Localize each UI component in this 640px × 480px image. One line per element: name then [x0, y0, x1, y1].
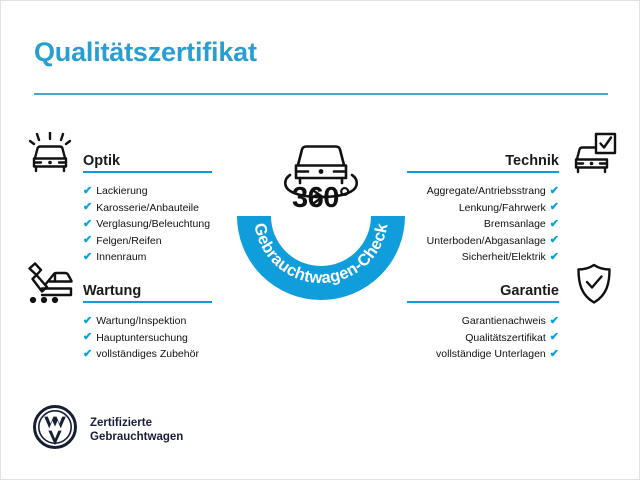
- checklist-garantie: Garantienachweis✔ Qualitätszertifikat✔ v…: [407, 313, 559, 363]
- check-icon: ✔: [83, 349, 92, 360]
- list-item-label: Felgen/Reifen: [96, 233, 161, 250]
- vw-footer: Zertifizierte Gebrauchtwagen: [33, 405, 183, 454]
- section-title: Optik: [83, 153, 120, 169]
- check-icon: ✔: [550, 186, 559, 197]
- list-item-label: Hauptuntersuchung: [96, 330, 188, 347]
- shield-check-icon: [575, 263, 613, 310]
- list-item: Qualitätszertifikat✔: [407, 330, 559, 347]
- list-item: Bremsanlage✔: [407, 216, 559, 233]
- list-item: ✔Lackierung: [83, 183, 201, 200]
- section-optik: Optik ✔Lackierung ✔Karosserie/Anbauteile…: [83, 139, 201, 266]
- list-item: Sicherheit/Elektrik✔: [407, 249, 559, 266]
- list-item: ✔Hauptuntersuchung: [83, 330, 201, 347]
- check-icon: ✔: [550, 349, 559, 360]
- list-item: Garantienachweis✔: [407, 313, 559, 330]
- car-wrench-icon: [25, 262, 75, 309]
- section-header: Garantie: [407, 269, 559, 303]
- car-rotate-icon: [296, 147, 346, 184]
- check-icon: ✔: [83, 235, 92, 246]
- check-icon: ✔: [550, 202, 559, 213]
- checklist-technik: Aggregate/Antriebsstrang✔ Lenkung/Fahrwe…: [407, 183, 559, 266]
- list-item: ✔vollständiges Zubehör: [83, 346, 201, 363]
- section-garantie: Garantie Garantienachweis✔ Qualitätszert…: [407, 269, 559, 363]
- list-item: vollständige Unterlagen✔: [407, 346, 559, 363]
- list-item-label: Innenraum: [96, 249, 146, 266]
- title-divider: [34, 93, 608, 95]
- section-divider: [407, 301, 559, 303]
- check-icon: ✔: [83, 316, 92, 327]
- list-item-label: Bremsanlage: [484, 216, 546, 233]
- vw-footer-line2: Gebrauchtwagen: [90, 430, 183, 444]
- list-item: Lenkung/Fahrwerk✔: [407, 200, 559, 217]
- page-title: Qualitätszertifikat: [34, 37, 257, 68]
- checklist-wartung: ✔Wartung/Inspektion ✔Hauptuntersuchung ✔…: [83, 313, 201, 363]
- check-icon: ✔: [83, 202, 92, 213]
- list-item-label: Karosserie/Anbauteile: [96, 200, 199, 217]
- check-icon: ✔: [83, 332, 92, 343]
- list-item: Unterboden/Abgasanlage✔: [407, 233, 559, 250]
- check-icon: ✔: [550, 235, 559, 246]
- list-item-label: Unterboden/Abgasanlage: [427, 233, 546, 250]
- section-divider: [407, 171, 559, 173]
- badge-degrees: 360°: [226, 182, 416, 215]
- list-item-label: Aggregate/Antriebsstrang: [427, 183, 546, 200]
- list-item-label: Lenkung/Fahrwerk: [459, 200, 546, 217]
- vw-footer-text: Zertifizierte Gebrauchtwagen: [90, 416, 183, 444]
- section-header: Optik: [83, 139, 201, 173]
- list-item-label: Wartung/Inspektion: [96, 313, 186, 330]
- section-technik: Technik Aggregate/Antriebsstrang✔ Lenkun…: [407, 139, 559, 266]
- section-title: Garantie: [500, 283, 559, 299]
- section-divider: [83, 171, 212, 173]
- check-icon: ✔: [83, 252, 92, 263]
- list-item-label: vollständiges Zubehör: [96, 346, 199, 363]
- certificate-page: Qualitätszertifikat: [0, 0, 640, 480]
- check-icon: ✔: [550, 316, 559, 327]
- list-item-label: Lackierung: [96, 183, 147, 200]
- list-item: ✔Verglasung/Beleuchtung: [83, 216, 201, 233]
- list-item: ✔Felgen/Reifen: [83, 233, 201, 250]
- check-icon: ✔: [550, 219, 559, 230]
- car-checkbox-icon: [571, 132, 617, 179]
- list-item-label: Qualitätszertifikat: [465, 330, 546, 347]
- section-wartung: Wartung ✔Wartung/Inspektion ✔Hauptunters…: [83, 269, 201, 363]
- list-item-label: vollständige Unterlagen: [436, 346, 546, 363]
- list-item: Aggregate/Antriebsstrang✔: [407, 183, 559, 200]
- list-item-label: Verglasung/Beleuchtung: [96, 216, 210, 233]
- section-divider: [83, 301, 212, 303]
- vw-logo-icon: [33, 405, 77, 454]
- section-title: Wartung: [83, 283, 141, 299]
- list-item: ✔Innenraum: [83, 249, 201, 266]
- check-icon: ✔: [550, 252, 559, 263]
- list-item-label: Garantienachweis: [462, 313, 546, 330]
- checklist-optik: ✔Lackierung ✔Karosserie/Anbauteile ✔Verg…: [83, 183, 201, 266]
- check-icon: ✔: [83, 186, 92, 197]
- car-shine-icon: [28, 132, 74, 179]
- section-header: Technik: [407, 139, 559, 173]
- list-item: ✔Wartung/Inspektion: [83, 313, 201, 330]
- list-item-label: Sicherheit/Elektrik: [462, 249, 546, 266]
- list-item: ✔Karosserie/Anbauteile: [83, 200, 201, 217]
- vw-footer-line1: Zertifizierte: [90, 416, 183, 430]
- badge-360-check: Gebrauchtwagen-Check 360°: [226, 121, 416, 311]
- check-icon: ✔: [83, 219, 92, 230]
- section-header: Wartung: [83, 269, 201, 303]
- section-title: Technik: [505, 153, 559, 169]
- check-icon: ✔: [550, 332, 559, 343]
